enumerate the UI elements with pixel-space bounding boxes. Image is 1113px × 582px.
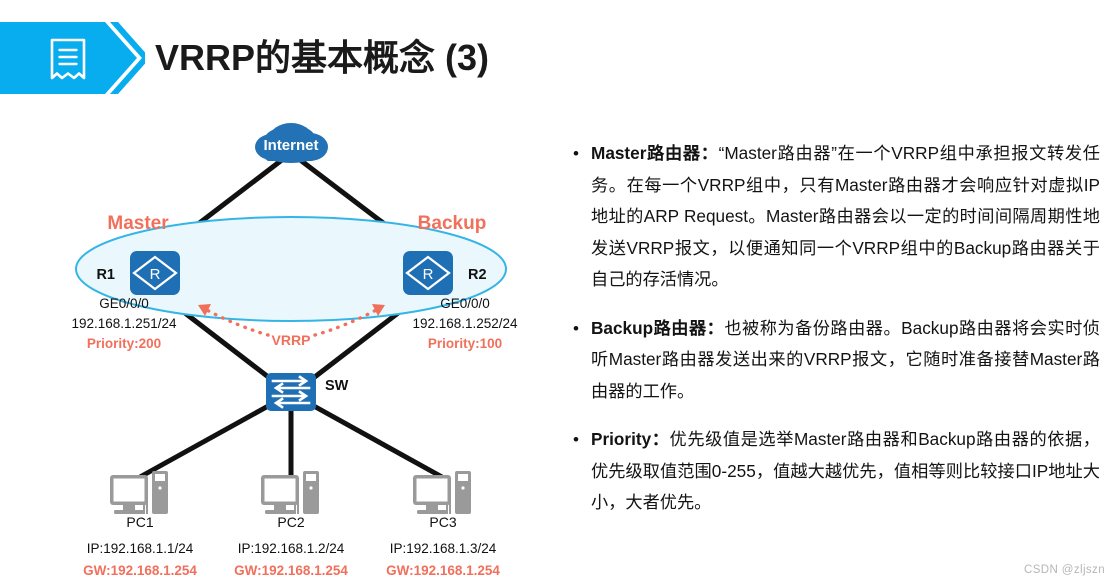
router-r2-ip: 192.168.1.252/24 [412, 316, 518, 331]
router-r1-node[interactable]: R [130, 251, 180, 295]
document-receipt-icon [47, 38, 89, 82]
bullet-marker: • [565, 313, 591, 408]
router-r1-priority: Priority:200 [87, 336, 161, 351]
pc2-name: PC2 [277, 514, 304, 530]
switch-label: SW [325, 378, 349, 394]
internet-cloud-node: Internet [255, 123, 328, 163]
bullet-description: “Master路由器”在一个VRRP组中承担报文转发任务。在每一个VRRP组中，… [591, 143, 1100, 289]
router-r1-name: R1 [96, 267, 115, 283]
link-sw-pc1 [140, 405, 270, 477]
bullet-term: Master路由器： [591, 143, 719, 163]
title-banner: VRRP的基本概念 (3) [0, 22, 560, 94]
pc3-name: PC3 [429, 514, 456, 530]
router-r2-priority: Priority:100 [428, 336, 502, 351]
router-r2-glyph: R [423, 266, 434, 283]
pc3-node[interactable] [413, 471, 471, 514]
pc1-gateway: GW:192.168.1.254 [83, 563, 197, 578]
bullet-marker: • [565, 138, 591, 296]
router-r2-node[interactable]: R [403, 251, 453, 295]
router-r2-interface: GE0/0/0 [440, 296, 490, 311]
watermark: CSDN @zljszn [1024, 564, 1105, 576]
cloud-label: Internet [263, 137, 318, 154]
pc3-ip: IP:192.168.1.3/24 [390, 541, 497, 556]
switch-node[interactable] [266, 373, 316, 411]
pc1-node[interactable] [110, 471, 168, 514]
pc2-gateway: GW:192.168.1.254 [234, 563, 348, 578]
router-r2-name: R2 [468, 267, 487, 283]
bullet-term: Backup路由器： [591, 318, 724, 338]
concept-bullet-list: • Master路由器：“Master路由器”在一个VRRP组中承担报文转发任务… [565, 138, 1100, 536]
router-r1-role: Master [107, 213, 169, 234]
router-r1-interface: GE0/0/0 [99, 296, 149, 311]
link-sw-pc3 [312, 405, 442, 477]
bullet-body: Master路由器：“Master路由器”在一个VRRP组中承担报文转发任务。在… [591, 138, 1100, 296]
bullet-body: Backup路由器：也被称为备份路由器。Backup路由器将会实时侦听Maste… [591, 313, 1100, 408]
page-title: VRRP的基本概念 (3) [155, 18, 489, 98]
pc1-ip: IP:192.168.1.1/24 [87, 541, 194, 556]
router-r2-role: Backup [418, 213, 487, 234]
router-r1-ip: 192.168.1.251/24 [71, 316, 177, 331]
bullet-item-backup: • Backup路由器：也被称为备份路由器。Backup路由器将会实时侦听Mas… [565, 313, 1100, 408]
pc3-gateway: GW:192.168.1.254 [386, 563, 500, 578]
router-r1-glyph: R [150, 266, 161, 283]
bullet-item-priority: • Priority：优先级值是选举Master路由器和Backup路由器的依据… [565, 424, 1100, 519]
pc1-name: PC1 [126, 514, 153, 530]
bullet-marker: • [565, 424, 591, 519]
pc2-node[interactable] [261, 471, 319, 514]
bullet-term: Priority： [591, 429, 670, 449]
network-topology-diagram: Internet R R1 Master GE0/0/0 192.168.1.2… [0, 105, 555, 582]
vrrp-arrow-label: VRRP [272, 332, 311, 348]
bullet-body: Priority：优先级值是选举Master路由器和Backup路由器的依据，优… [591, 424, 1100, 519]
pc2-ip: IP:192.168.1.2/24 [238, 541, 345, 556]
bullet-item-master: • Master路由器：“Master路由器”在一个VRRP组中承担报文转发任务… [565, 138, 1100, 296]
